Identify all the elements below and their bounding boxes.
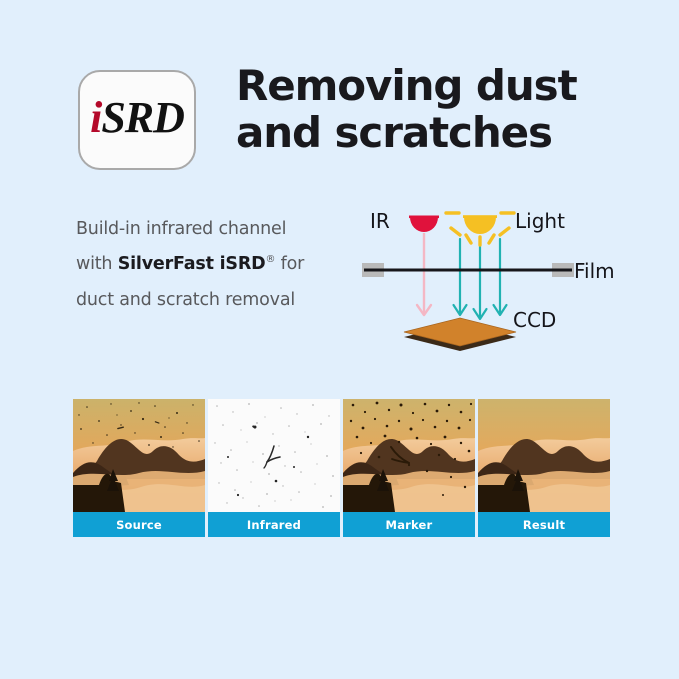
silverfast-isrd-brand: SilverFast iSRD	[118, 254, 266, 274]
comparison-panel-source[interactable]: Source	[73, 399, 205, 537]
light-source-icon	[446, 213, 514, 245]
isrd-logo-text: iSRD	[90, 96, 184, 140]
comparison-panel-result[interactable]: Result	[478, 399, 610, 537]
scanner-diagram: IR Light Film CCD	[356, 195, 656, 365]
isrd-logo-letter-i: i	[90, 93, 101, 142]
ccd-sensor-icon	[404, 318, 516, 351]
intro-section: Build-in infrared channel with SilverFas…	[0, 195, 679, 370]
intro-line-2: with SilverFast iSRD® for	[76, 247, 346, 282]
intro-line-2-prefix: with	[76, 254, 118, 274]
comparison-strip: Source	[0, 399, 679, 539]
intro-line-2-suffix: for	[275, 254, 304, 274]
panel-caption-result: Result	[478, 512, 610, 537]
registered-mark: ®	[265, 255, 275, 266]
diagram-label-light: Light	[515, 209, 565, 233]
intro-paragraph: Build-in infrared channel with SilverFas…	[76, 212, 346, 318]
panel-image-result	[478, 399, 610, 512]
diagram-label-film: Film	[574, 259, 615, 283]
ir-beam-arrow	[417, 233, 431, 315]
panel-caption-infrared: Infrared	[208, 512, 340, 537]
diagram-label-ir: IR	[370, 209, 390, 233]
page-title: Removing dust and scratches	[236, 62, 656, 156]
panel-image-marker	[343, 399, 475, 512]
intro-line-1: Build-in infrared channel	[76, 212, 346, 247]
isrd-logo-letters-srd: SRD	[101, 93, 184, 142]
comparison-panel-infrared[interactable]: Infrared	[208, 399, 340, 537]
comparison-panel-marker[interactable]: Marker	[343, 399, 475, 537]
film-strip	[362, 263, 574, 277]
panel-caption-source: Source	[73, 512, 205, 537]
intro-line-3: duct and scratch removal	[76, 283, 346, 318]
diagram-label-ccd: CCD	[513, 308, 556, 332]
poster-canvas: iSRD Removing dust and scratches Build-i…	[0, 0, 679, 679]
header: iSRD Removing dust and scratches	[0, 0, 679, 195]
light-beam-arrows	[454, 239, 507, 319]
isrd-logo: iSRD	[78, 70, 196, 170]
panel-caption-marker: Marker	[343, 512, 475, 537]
panel-image-source	[73, 399, 205, 512]
ir-source-icon	[409, 216, 439, 233]
panel-image-infrared	[208, 399, 340, 512]
